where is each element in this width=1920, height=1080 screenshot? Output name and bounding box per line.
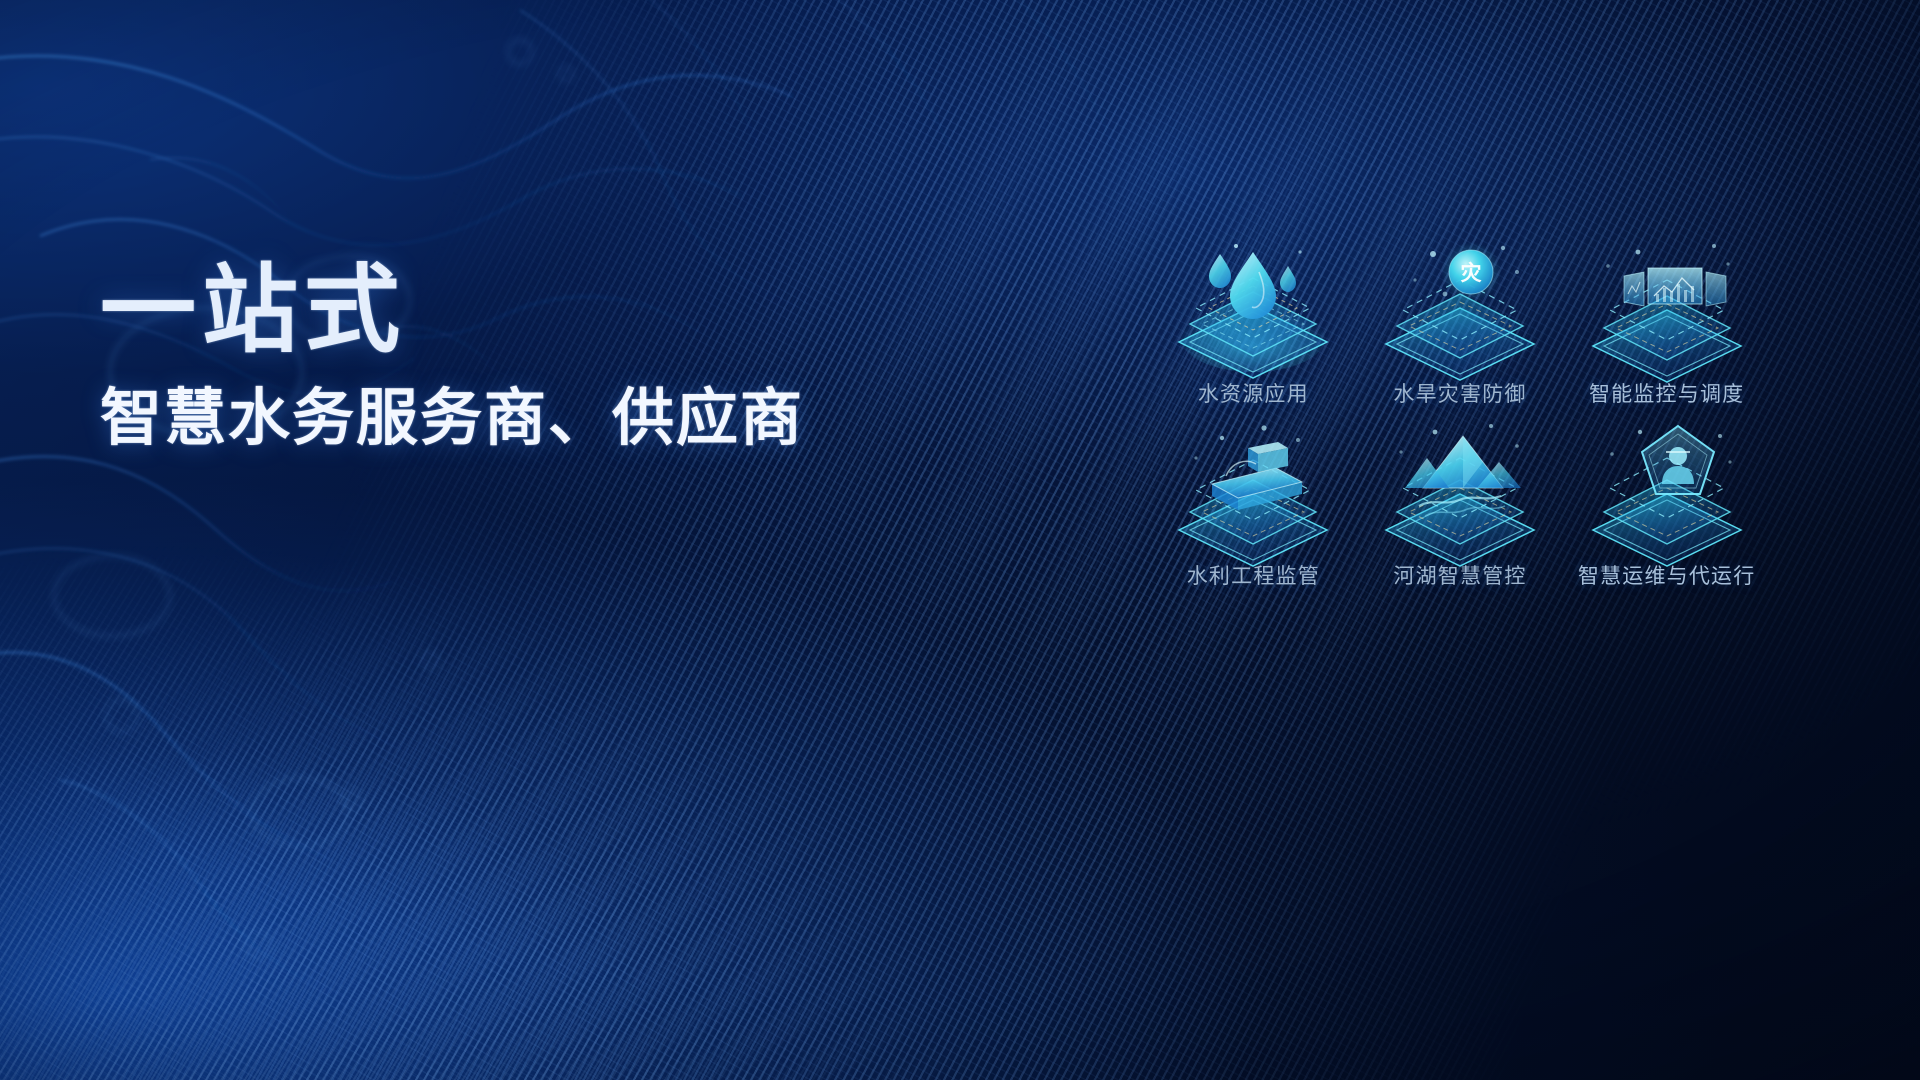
- monitoring-screens-platform-icon: [1578, 232, 1756, 382]
- icon-label: 水旱灾害防御: [1393, 378, 1526, 408]
- water-drop-platform-icon: [1164, 232, 1342, 382]
- page-title: 一站式: [100, 262, 920, 360]
- headline-block: 一站式 智慧水务服务商、供应商: [100, 262, 920, 453]
- service-icon-grid: 水资源应用: [1150, 232, 1770, 590]
- icon-cell-water-conservancy-project-supervision[interactable]: 水利工程监管: [1150, 414, 1357, 590]
- page-subtitle: 智慧水务服务商、供应商: [100, 386, 920, 453]
- mountain-river-platform-icon: [1371, 414, 1549, 564]
- disaster-sphere-platform-icon: 灾: [1371, 232, 1549, 382]
- slide-canvas: 一站式 智慧水务服务商、供应商: [0, 0, 1920, 1080]
- icon-cell-smart-operation-maintenance[interactable]: 智慧运维与代运行: [1563, 414, 1770, 590]
- svg-text:灾: 灾: [1460, 261, 1482, 285]
- shield-operator-platform-icon: [1578, 414, 1756, 564]
- dam-structure-platform-icon: [1164, 414, 1342, 564]
- icon-label: 水资源应用: [1198, 378, 1309, 408]
- icon-cell-river-lake-smart-control[interactable]: 河湖智慧管控: [1357, 414, 1564, 590]
- icon-cell-flood-drought-disaster-prevention[interactable]: 灾 水旱灾害防御: [1357, 232, 1564, 408]
- icon-cell-water-resource-application[interactable]: 水资源应用: [1150, 232, 1357, 408]
- icon-cell-intelligent-monitoring-dispatch[interactable]: 智能监控与调度: [1563, 232, 1770, 408]
